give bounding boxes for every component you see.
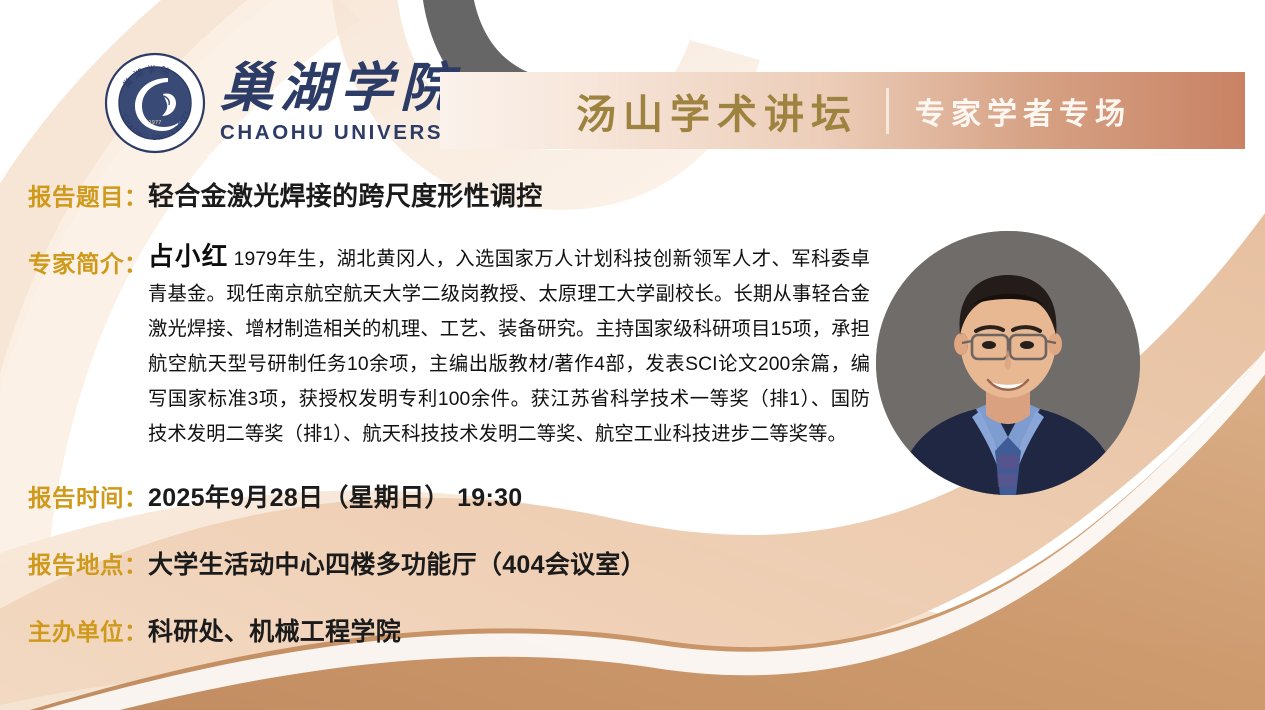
field-row-organizer: 主办单位： 科研处、机械工程学院: [0, 612, 1265, 648]
organizer-label: 主办单位：: [28, 613, 148, 647]
svg-text:1977: 1977: [149, 120, 162, 126]
lecture-title: 轻合金激光焊接的跨尺度形性调控: [148, 176, 543, 213]
title-label: 报告题目：: [28, 178, 148, 212]
university-seal-icon: 1977 巢湖学院 CHAOHU UNIVERSITY: [104, 52, 206, 154]
time-label: 报告时间：: [28, 479, 148, 513]
speaker-bio-text: 1979年生，湖北黄冈人，入选国家万人计划科技创新领军人才、军科委卓青基金。现任…: [148, 249, 870, 445]
lecture-time: 2025年9月28日（星期日） 19:30: [148, 478, 523, 514]
field-row-time: 报告时间： 2025年9月28日（星期日） 19:30: [0, 478, 1265, 514]
lecture-organizer: 科研处、机械工程学院: [148, 612, 401, 648]
lecture-series-banner: 汤山学术讲坛 专家学者专场: [440, 72, 1245, 149]
speaker-bio-block: 占小红1979年生，湖北黄冈人，入选国家万人计划科技创新领军人才、军科委卓青基金…: [148, 240, 870, 452]
speaker-name: 占小红: [148, 243, 229, 271]
speaker-label: 专家简介：: [28, 240, 148, 279]
banner-divider: [886, 88, 889, 134]
banner-subtitle: 专家学者专场: [915, 89, 1131, 133]
poster-root: 1977 巢湖学院 CHAOHU UNIVERSITY 巢湖学院 CHAOHU …: [0, 0, 1265, 710]
field-row-title: 报告题目： 轻合金激光焊接的跨尺度形性调控: [0, 176, 1265, 213]
lecture-place: 大学生活动中心四楼多功能厅（404会议室）: [148, 545, 646, 581]
speaker-portrait: [876, 231, 1140, 495]
banner-main-title: 汤山学术讲坛: [576, 82, 858, 140]
place-label: 报告地点：: [28, 546, 148, 580]
field-row-place: 报告地点： 大学生活动中心四楼多功能厅（404会议室）: [0, 545, 1265, 581]
university-logo: 1977 巢湖学院 CHAOHU UNIVERSITY 巢湖学院 CHAOHU …: [104, 52, 483, 154]
poster-header: 1977 巢湖学院 CHAOHU UNIVERSITY 巢湖学院 CHAOHU …: [0, 0, 1265, 160]
